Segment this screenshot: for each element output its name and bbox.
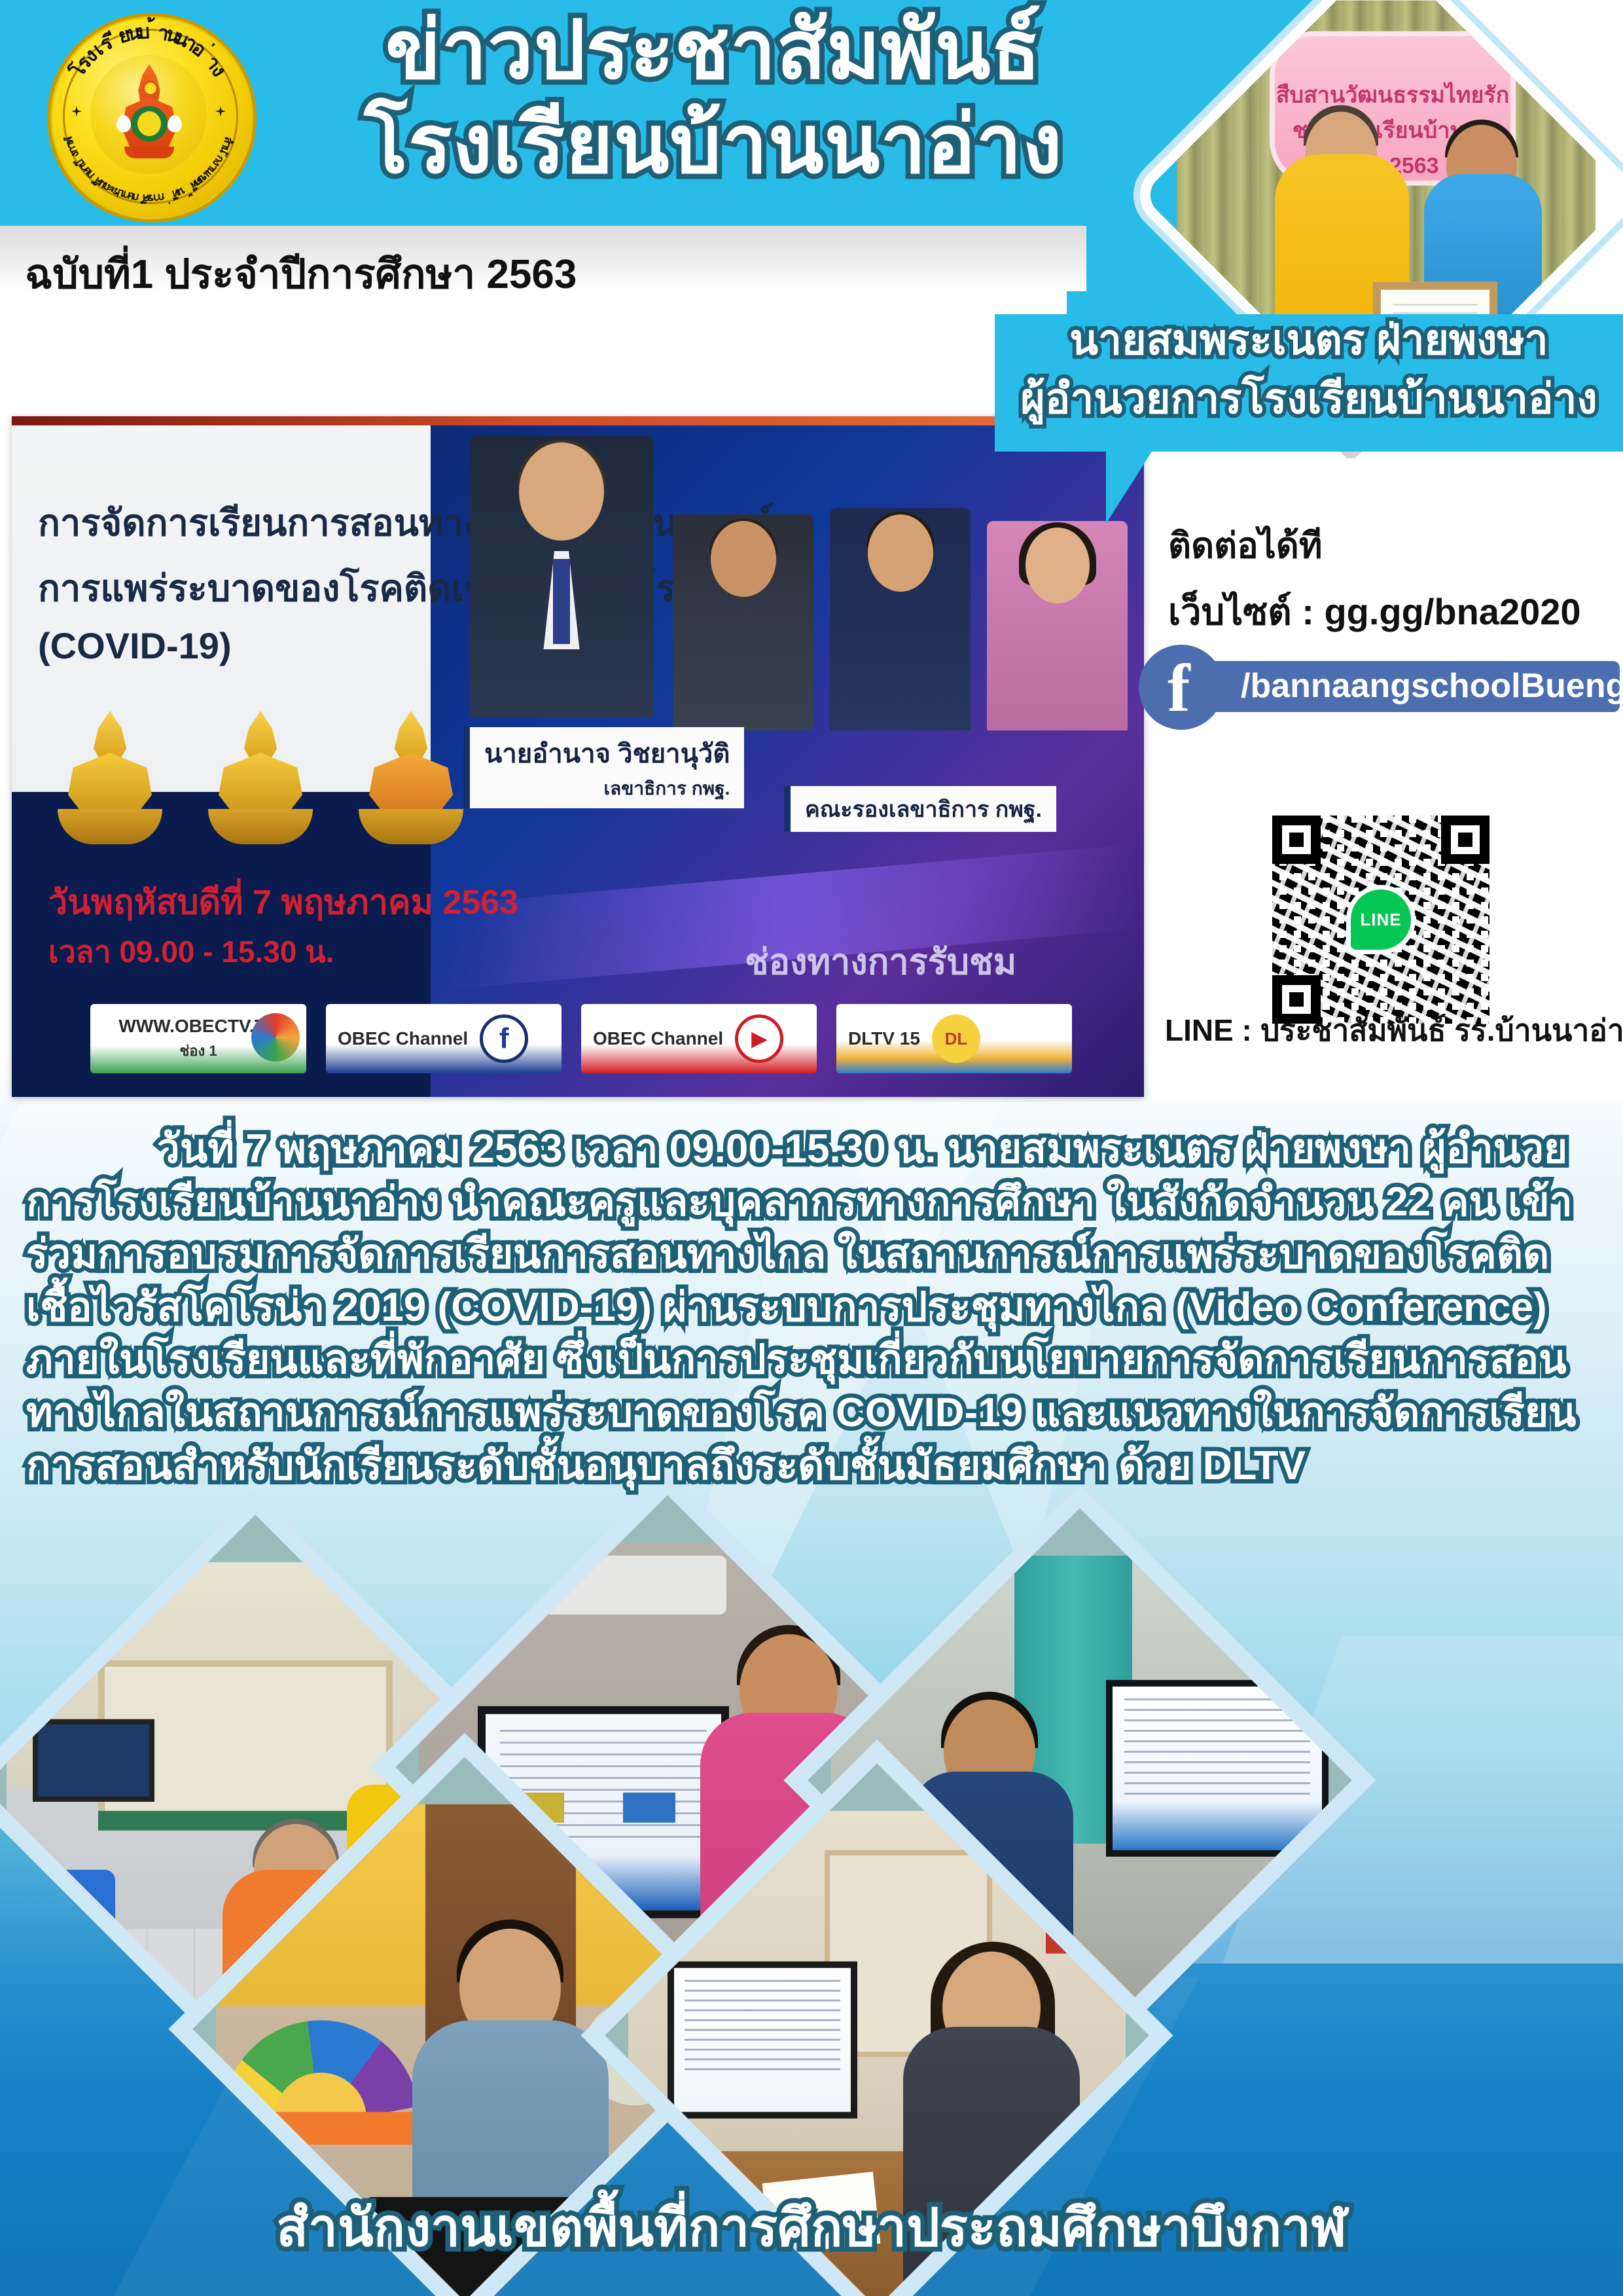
broadcast-seal-3 — [352, 711, 470, 852]
director-banner-tail — [1106, 452, 1198, 524]
broadcast-speaker-title: เลขาธิการ กพฐ. — [484, 774, 730, 803]
broadcast-seals — [51, 711, 470, 861]
qr-finder-top-right — [1441, 816, 1489, 864]
facebook-handle[interactable]: /bannaangschoolBuengKan — [1241, 666, 1623, 706]
title-line-2: โรงเรียนบ้านนาอ่าง — [281, 103, 1145, 186]
channel-obectv-sub: ช่อง 1 — [173, 1038, 223, 1064]
broadcast-speaker-name: นายอำนาจ วิชยานุวัติ — [484, 732, 730, 774]
broadcast-screenshot: การจัดการเรียนการสอนทางไกลในสถานการณ์ กา… — [12, 416, 1144, 1097]
dltv-icon: DL — [932, 1014, 980, 1063]
director-position: ผู้อำนวยการโรงเรียนบ้านนาอ่าง — [995, 377, 1623, 421]
broadcast-time: เวลา 09.00 - 15.30 น. — [48, 928, 334, 976]
channel-obec-facebook-name: OBEC Channel — [326, 1028, 480, 1049]
broadcast-panelist-2 — [830, 508, 971, 730]
channel-dltv: DLTV 15 DL — [836, 1004, 1072, 1073]
broadcast-headline-1: การจัดการเรียนการสอนทางไกลในสถานการณ์ — [38, 493, 774, 552]
qr-finder-top-left — [1272, 816, 1321, 864]
broadcast-channel-row: WWW.OBECTV.TV ช่อง 1 OBEC Channel f OBEC… — [51, 1004, 1124, 1081]
facebook-f-icon: f — [1168, 655, 1190, 723]
broadcast-date: วันพฤหัสบดีที่ 7 พฤษภาคม 2563 — [48, 874, 518, 929]
broadcast-panel-label: คณะรองเลขาธิการ กพฐ. — [784, 786, 1056, 832]
channel-obectv: WWW.OBECTV.TV ช่อง 1 — [90, 1004, 306, 1073]
obec-tv-icon — [251, 1013, 300, 1062]
school-logo: โรงเรียนบ้านนาอ่าง สำนักงานเขตพื้นที่การ… — [41, 7, 257, 223]
youtube-icon: ▶ — [735, 1014, 783, 1063]
broadcast-panelist-1 — [673, 514, 813, 730]
facebook-icon: f — [480, 1014, 528, 1063]
logo-arc-bottom-text: สำนักงานเขตพื้นที่การศึกษาประถมศึกษาบึงก… — [41, 7, 257, 223]
channel-obec-facebook: OBEC Channel f — [326, 1004, 562, 1073]
broadcast-seal-2 — [202, 711, 319, 852]
line-caption: LINE : ประชาสัมพันธ์ รร.บ้านนาอ่าง — [1165, 1007, 1623, 1054]
director-name-banner: นายสมพระเนตร ฝ่ายพงษา ผู้อำนวยการโรงเรีย… — [995, 314, 1623, 452]
broadcast-panelist-3 — [987, 521, 1128, 730]
channel-obec-youtube-name: OBEC Channel — [581, 1028, 735, 1049]
photo-collage — [0, 1492, 1623, 2251]
channel-obec-youtube: OBEC Channel ▶ — [581, 1004, 817, 1073]
footer-office-name: สำนักงานเขตพื้นที่การศึกษาประถมศึกษาบึงก… — [0, 2186, 1623, 2269]
line-qr-code[interactable]: LINE — [1272, 816, 1489, 1024]
broadcast-watch-label: ช่องทางการรับชม — [745, 933, 1016, 990]
contact-website[interactable]: เว็บไซต์ : gg.gg/bna2020 — [1168, 583, 1581, 641]
line-logo-icon: LINE — [1351, 889, 1411, 950]
issue-line: ฉบับที่1 ประจำปีการศึกษา 2563 — [25, 242, 577, 306]
page-title: ข่าวประชาสัมพันธ์ โรงเรียนบ้านนาอ่าง — [281, 9, 1145, 219]
broadcast-top-bar — [12, 416, 1144, 425]
broadcast-speaker-label: นายอำนาจ วิชยานุวัติ เลขาธิการ กพฐ. — [463, 727, 744, 808]
contact-label: ติดต่อได้ที — [1168, 517, 1322, 573]
newsletter-poster: โรงเรียนบ้านนาอ่าง สำนักงานเขตพื้นที่การ… — [0, 0, 1623, 2296]
article-paragraph: วันที่ 7 พฤษภาคม 2563 เวลา 09.00-15.30 น… — [26, 1123, 1597, 1492]
title-line-1: ข่าวประชาสัมพันธ์ — [281, 9, 1145, 92]
channel-dltv-name: DLTV 15 — [836, 1028, 932, 1049]
broadcast-seal-1 — [51, 711, 169, 852]
broadcast-speaker-main — [470, 436, 653, 717]
broadcast-headline-3: (COVID-19) — [38, 624, 232, 667]
director-name: นายสมพระเนตร ฝ่ายพงษา — [995, 318, 1623, 362]
